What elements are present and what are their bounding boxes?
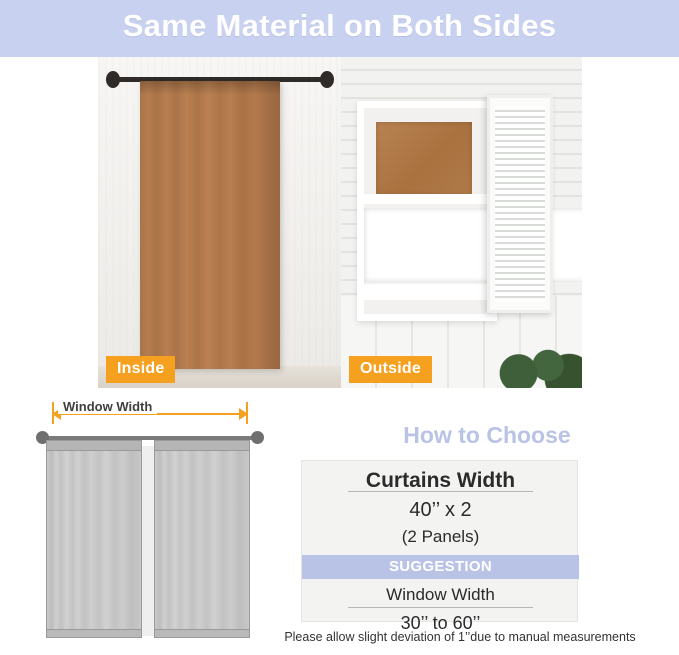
measure-label: Window Width [58, 399, 157, 414]
rod-finial-left-icon [106, 71, 120, 88]
shrub-icon [491, 342, 582, 388]
label-inside: Inside [106, 356, 175, 383]
panel-count-text: (2 Panels) [302, 527, 579, 547]
measure-tick-left [52, 402, 54, 424]
window-inner [364, 108, 490, 314]
measure-tick-right [246, 402, 248, 424]
card-divider-bottom [348, 607, 533, 608]
suggestion-banner: SUGGESTION [302, 555, 579, 579]
window-frame [357, 101, 497, 321]
window-shutter-icon [487, 95, 553, 313]
diagram-finial-right-icon [251, 431, 264, 444]
window-width-label: Window Width [302, 585, 579, 605]
curtain-panel-inside [140, 81, 280, 369]
window-rail-middle [364, 194, 490, 204]
curtain-diagram [36, 422, 264, 640]
curtain-visible-through-window-top [376, 122, 472, 196]
photo-outside [341, 57, 582, 388]
measurement-note: Please allow slight deviation of 1’’due … [246, 630, 674, 644]
size-guide-card: Curtains Width 40’’ x 2 (2 Panels) SUGGE… [301, 460, 578, 622]
curtains-width-label: Curtains Width [302, 469, 579, 493]
how-to-choose-section: Window Width How to Choose Curtains Widt… [0, 388, 679, 655]
card-divider-top [348, 491, 533, 492]
label-outside: Outside [349, 356, 432, 383]
rod-finial-right-icon [320, 71, 334, 88]
curtains-width-value: 40’’ x 2 [302, 499, 579, 522]
diagram-panel-left [46, 440, 142, 638]
photo-inside [98, 57, 341, 388]
window-sill [364, 284, 490, 300]
header-banner: Same Material on Both Sides [0, 0, 679, 57]
diagram-panel-right [154, 440, 250, 638]
photo-comparison-row: Inside Outside [0, 57, 679, 388]
how-to-choose-title: How to Choose [296, 422, 678, 449]
page-title: Same Material on Both Sides [0, 8, 679, 44]
